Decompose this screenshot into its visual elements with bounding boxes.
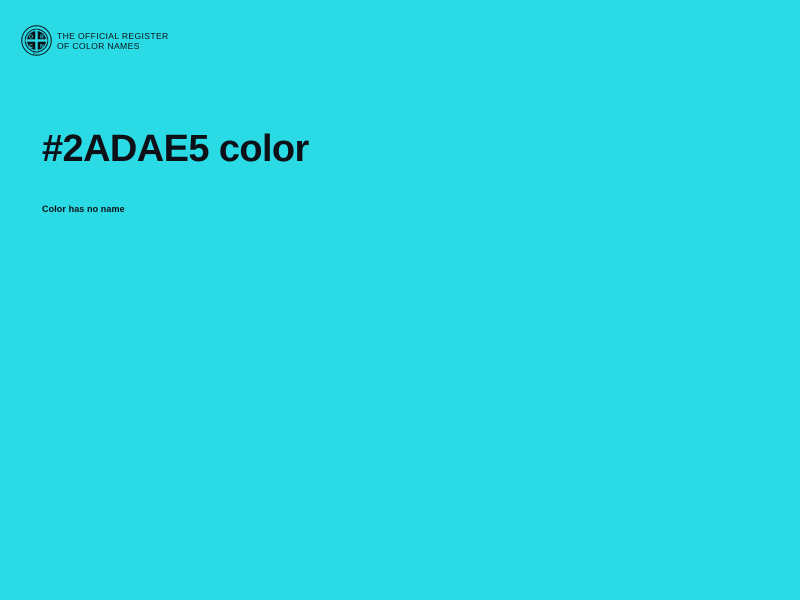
color-page: O R C N EST. THE OFFICIAL REGISTER OF CO… [0,0,800,600]
svg-text:C: C [29,44,33,50]
svg-text:R: R [40,34,44,40]
page-title: #2ADAE5 color [42,126,742,172]
svg-text:EST.: EST. [33,51,40,55]
color-info: #2ADAE5 color Color has no name [42,126,742,215]
brand-wordmark-line-2: OF COLOR NAMES [57,41,169,51]
color-name-status: Color has no name [42,172,742,215]
brand-wordmark: THE OFFICIAL REGISTER OF COLOR NAMES [57,30,169,51]
brand-wordmark-line-1: THE OFFICIAL REGISTER [57,31,169,41]
register-seal-icon: O R C N EST. [21,25,52,56]
site-brand[interactable]: O R C N EST. THE OFFICIAL REGISTER OF CO… [21,25,169,56]
svg-text:O: O [29,34,33,40]
svg-text:N: N [40,44,44,50]
